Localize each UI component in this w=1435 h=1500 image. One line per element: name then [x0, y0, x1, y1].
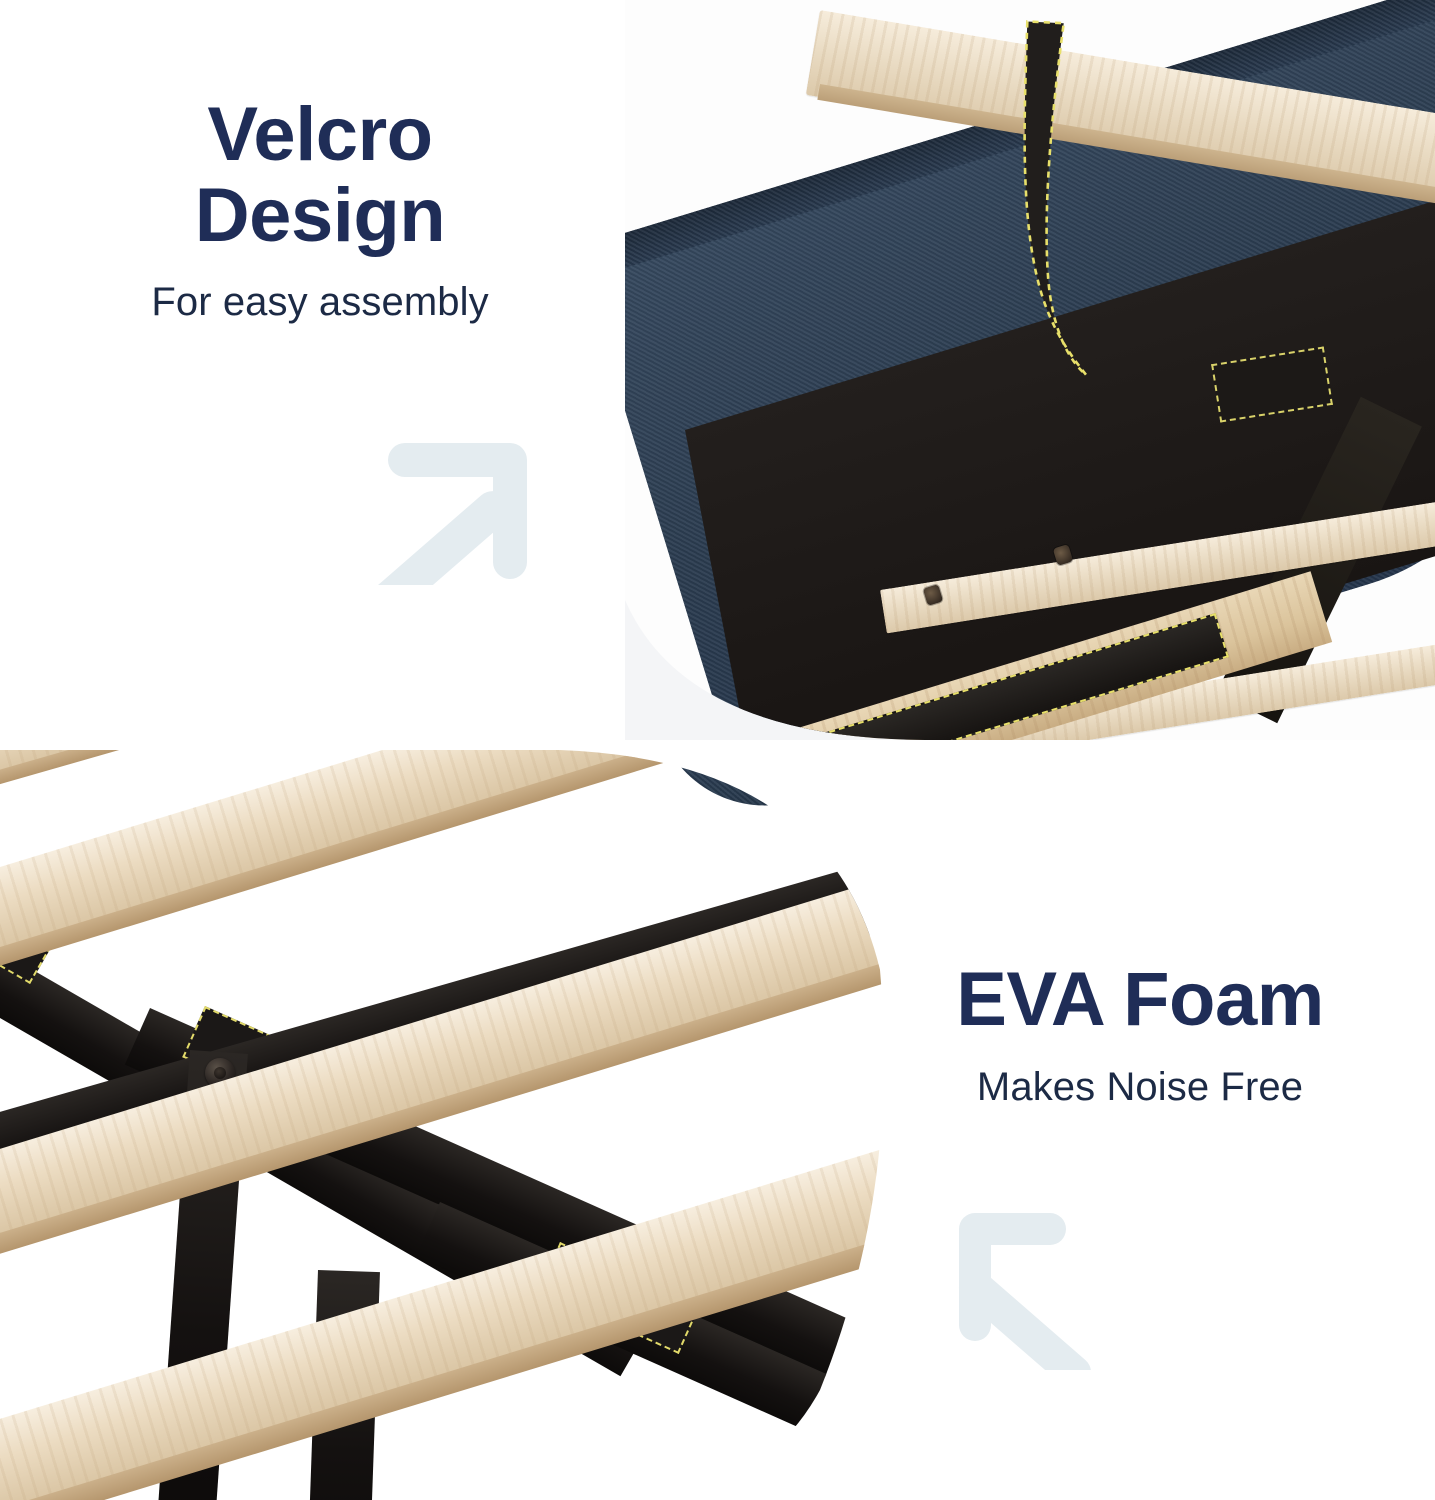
eva-foam-text-block: EVA Foam Makes Noise Free	[880, 960, 1400, 1111]
velcro-subline: For easy assembly	[60, 278, 580, 326]
velcro-peeled-tab	[1010, 18, 1088, 418]
infographic-canvas: Velcro Design For easy assembly EVA Foam…	[0, 0, 1435, 1500]
velcro-text-block: Velcro Design For easy assembly	[60, 95, 580, 326]
eva-foam-subline: Makes Noise Free	[880, 1063, 1400, 1111]
velcro-headline-line2: Design	[195, 173, 445, 258]
fabric-sliver	[655, 750, 890, 816]
arrow-up-right-icon	[350, 425, 535, 585]
eva-foam-headline: EVA Foam	[880, 960, 1400, 1041]
velcro-headline-line1: Velcro	[207, 92, 432, 177]
velcro-photo-panel	[625, 0, 1435, 740]
eva-foam-photo-panel	[0, 750, 890, 1500]
velcro-photo-clip	[625, 0, 1435, 740]
arrow-up-left-icon	[955, 1205, 1095, 1370]
velcro-headline: Velcro Design	[60, 95, 580, 256]
